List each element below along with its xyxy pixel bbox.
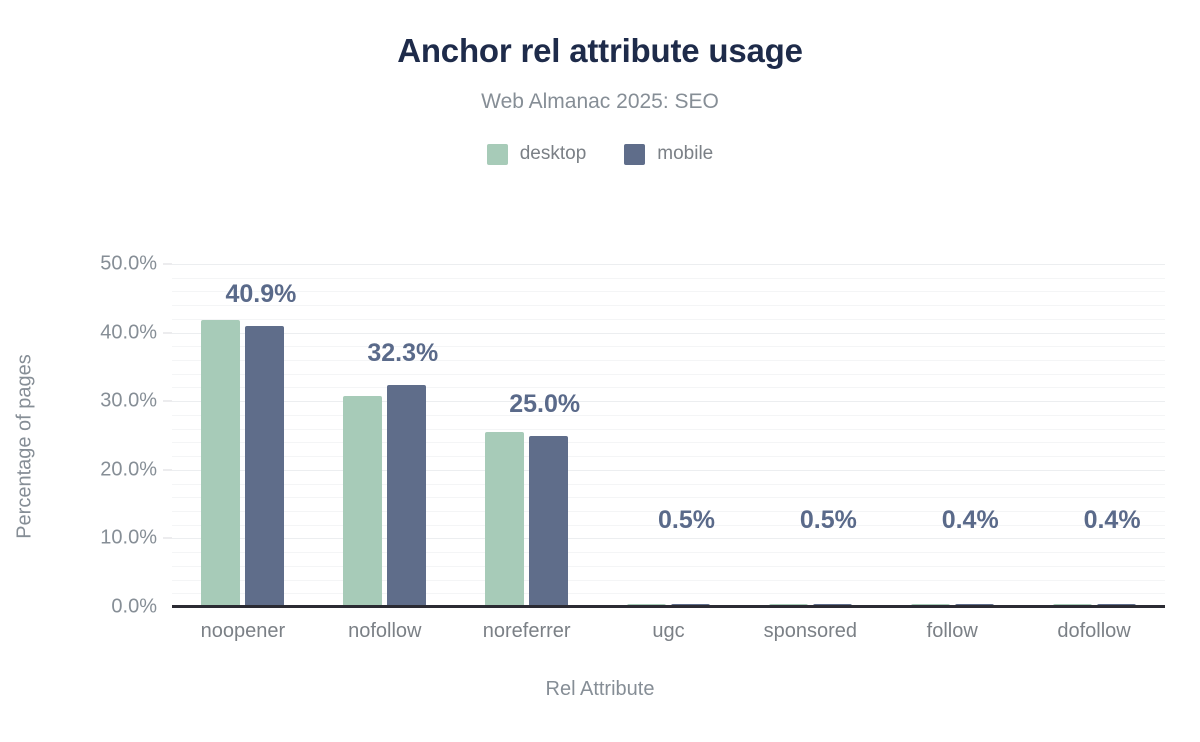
- value-label-dofollow: 0.4%: [1084, 506, 1141, 535]
- y-axis-tick-mark: [163, 264, 172, 265]
- y-axis-tick-label: 10.0%: [22, 527, 157, 550]
- x-axis-tick-label-noreferrer: noreferrer: [483, 620, 571, 643]
- bar-mobile-nofollow[interactable]: [387, 385, 426, 607]
- chart-container: Anchor rel attribute usage Web Almanac 2…: [0, 0, 1200, 742]
- bar-desktop-noreferrer[interactable]: [485, 432, 524, 607]
- legend-item-mobile[interactable]: mobile: [624, 143, 713, 165]
- bar-mobile-noreferrer[interactable]: [529, 436, 568, 608]
- value-label-nofollow: 32.3%: [367, 339, 438, 368]
- value-label-noopener: 40.9%: [225, 280, 296, 309]
- x-axis-title: Rel Attribute: [0, 678, 1200, 701]
- x-axis-tick-label-ugc: ugc: [652, 620, 684, 643]
- bars-layer: [172, 264, 1165, 607]
- y-axis-tick-label: 40.0%: [22, 321, 157, 344]
- x-axis-tick-label-nofollow: nofollow: [348, 620, 421, 643]
- x-axis-tick-label-noopener: noopener: [201, 620, 286, 643]
- legend-item-desktop[interactable]: desktop: [487, 143, 587, 165]
- legend-swatch-desktop: [487, 144, 508, 165]
- value-label-noreferrer: 25.0%: [509, 390, 580, 419]
- value-label-ugc: 0.5%: [658, 506, 715, 535]
- x-axis-line: [172, 605, 1165, 608]
- y-axis-tick-label: 30.0%: [22, 390, 157, 413]
- value-label-sponsored: 0.5%: [800, 506, 857, 535]
- y-axis-tick-mark: [163, 332, 172, 333]
- bar-desktop-nofollow[interactable]: [343, 396, 382, 607]
- value-label-follow: 0.4%: [942, 506, 999, 535]
- bar-desktop-noopener[interactable]: [201, 320, 240, 607]
- plot-area: [172, 264, 1165, 607]
- bar-mobile-noopener[interactable]: [245, 326, 284, 607]
- legend-label-mobile: mobile: [657, 143, 713, 165]
- x-axis-tick-label-sponsored: sponsored: [764, 620, 857, 643]
- y-axis-tick-mark: [163, 401, 172, 402]
- x-axis-tick-label-follow: follow: [927, 620, 978, 643]
- legend-swatch-mobile: [624, 144, 645, 165]
- chart-title: Anchor rel attribute usage: [0, 32, 1200, 70]
- y-axis-tick-mark: [163, 469, 172, 470]
- x-axis-tick-label-dofollow: dofollow: [1057, 620, 1130, 643]
- y-axis-tick-label: 0.0%: [22, 596, 157, 619]
- y-axis-tick-label: 20.0%: [22, 458, 157, 481]
- y-axis-title: Percentage of pages: [14, 257, 37, 637]
- chart-subtitle: Web Almanac 2025: SEO: [0, 90, 1200, 114]
- chart-legend: desktop mobile: [0, 143, 1200, 165]
- y-axis-tick-label: 50.0%: [22, 253, 157, 276]
- legend-label-desktop: desktop: [520, 143, 587, 165]
- y-axis-tick-mark: [163, 538, 172, 539]
